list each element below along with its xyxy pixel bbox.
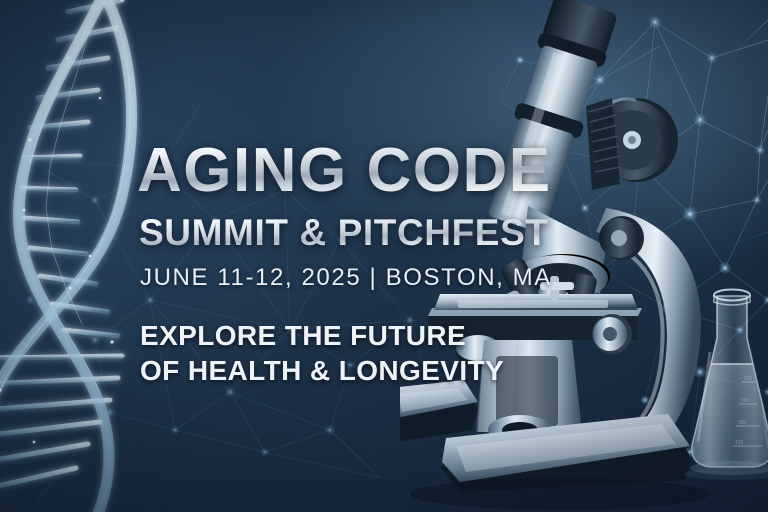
event-tagline: EXPLORE THE FUTURE OF HEALTH & LONGEVITY (140, 318, 677, 389)
event-dateline: JUNE 11-12, 2025 | BOSTON, MA (140, 266, 677, 290)
event-subtitle: SUMMIT & PITCHFEST (139, 214, 677, 251)
event-banner: 250 200 150 100 AGING CODE SUMMIT & PITC… (0, 0, 768, 512)
tagline-line-2: OF HEALTH & LONGEVITY (140, 353, 677, 388)
tagline-line-1: EXPLORE THE FUTURE (140, 318, 677, 353)
page-title: AGING CODE (137, 140, 677, 202)
headline-block: AGING CODE SUMMIT & PITCHFEST JUNE 11-12… (137, 140, 677, 389)
